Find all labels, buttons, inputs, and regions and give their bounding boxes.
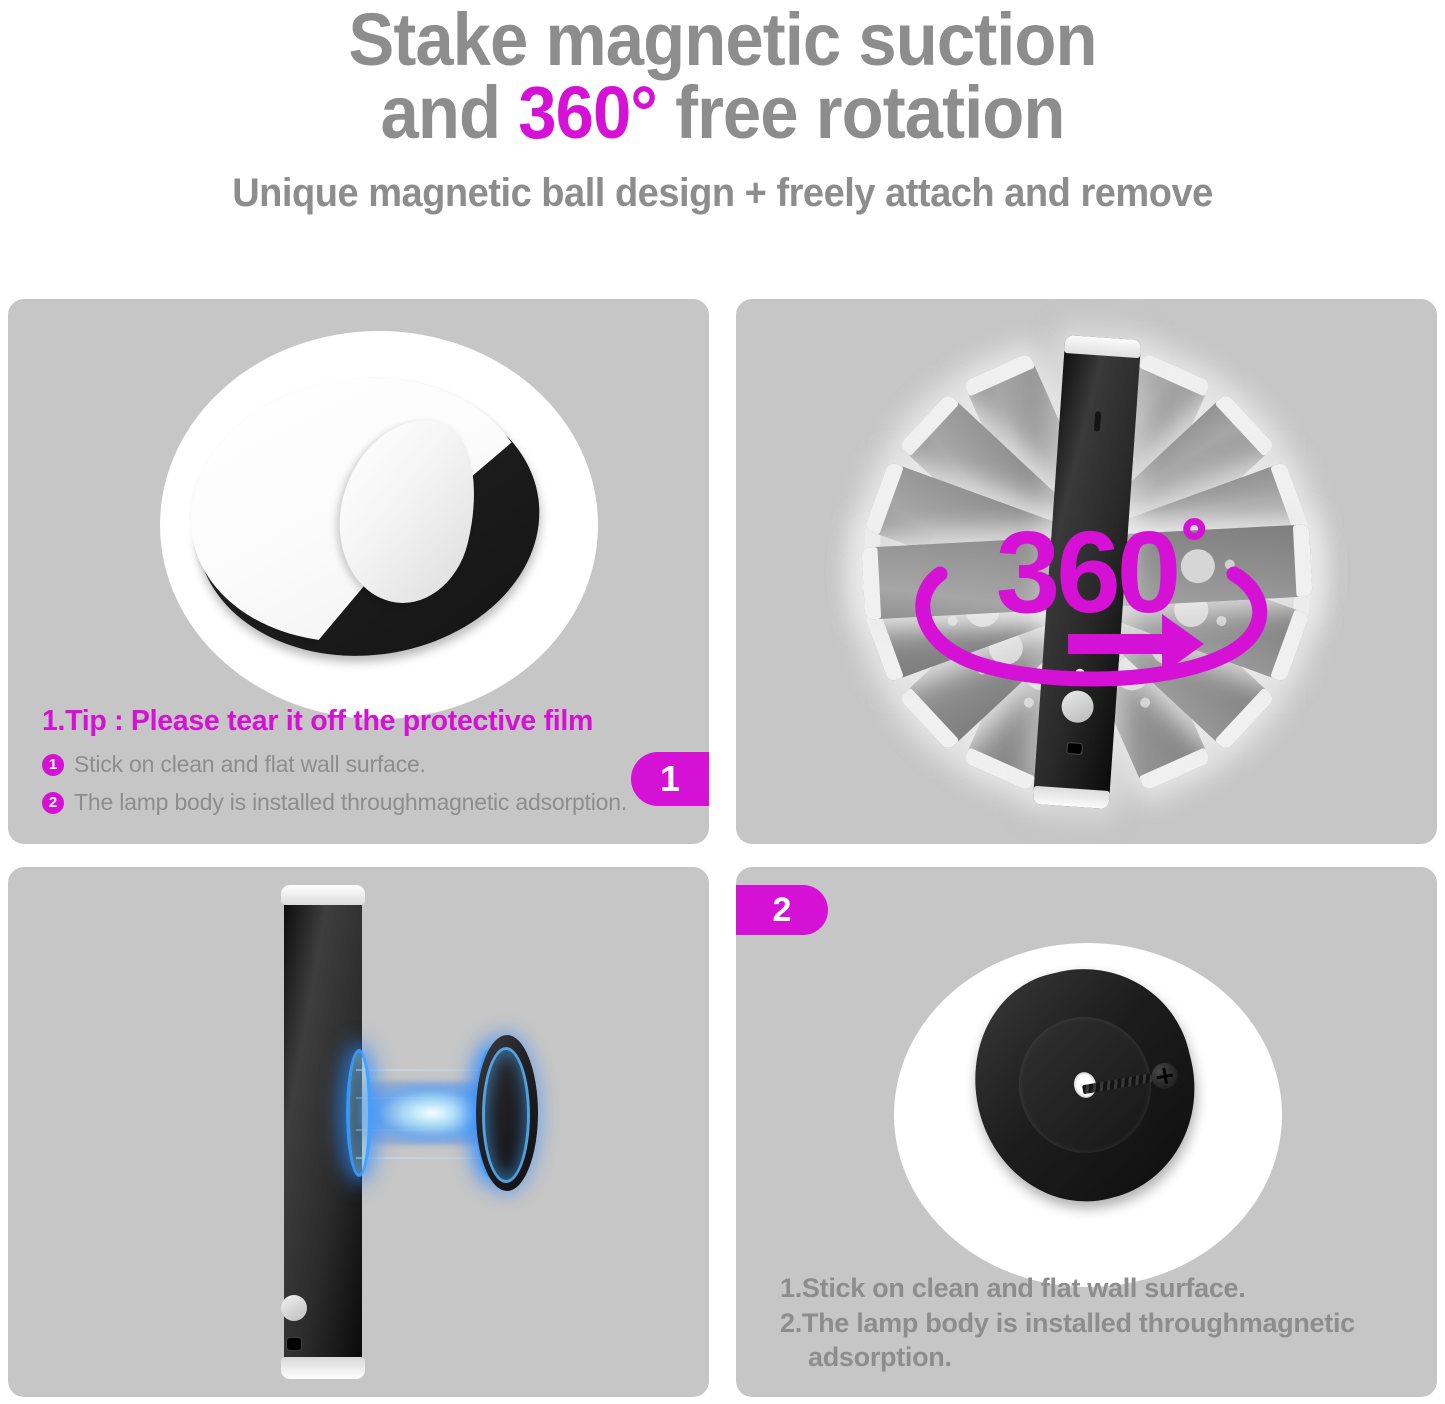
panel4-line-2: 2.The lamp body is installed throughmagn… [780,1308,1355,1338]
list-item: 2 The lamp body is installed throughmagn… [42,789,627,816]
lamp-bottom-cap-icon [1032,785,1109,808]
bullet-number-icon: 2 [42,792,64,814]
panel1-tip-text: 1.Tip : Please tear it off the protectiv… [42,705,593,738]
rotation-fan-graphic: 360 [736,299,1437,844]
ghost-sensor-dot-icon [975,662,989,676]
title-line-1: Stake magnetic suction [51,4,1395,77]
panel-grid: 1.Tip : Please tear it off the protectiv… [8,299,1437,1397]
step-badge-1: 1 [631,752,709,806]
ghost-sensor-icon [1179,548,1215,584]
panel4-line-1: 1.Stick on clean and flat wall surface. [780,1273,1245,1303]
step-badge-2: 2 [736,885,828,935]
beam-ring-left-icon [346,1049,372,1177]
ghost-sensor-dot-icon [1214,614,1227,627]
bullet-number-icon: 1 [42,754,64,776]
panel-mounting-plate: 2 1.Stick on clean and flat wall surface… [736,867,1437,1397]
page-title: Stake magnetic suction and 360° free rot… [51,4,1395,149]
panel1-instruction-list: 1 Stick on clean and flat wall surface. … [42,751,627,827]
lamp-top-cap-icon [1064,334,1141,357]
lamp-charging-port-icon [286,1337,302,1351]
ghost-sensor-dot-icon [946,614,959,627]
mounting-plate-photo [894,943,1282,1287]
ghost-sensor-dot-icon [1184,662,1198,676]
list-item: 1 Stick on clean and flat wall surface. [42,751,627,778]
ghost-sensor-dot-icon [1224,559,1235,570]
panel-adhesive-pad: 1.Tip : Please tear it off the protectiv… [8,299,709,844]
title-accent-360: 360° [518,71,657,154]
lamp-top-cap-icon [281,885,365,905]
list-item-label: Stick on clean and flat wall surface. [74,751,426,778]
lamp-motion-sensor-icon [1060,689,1094,723]
lamp-motion-sensor-icon [281,1295,307,1321]
lamp-bottom-cap-icon [281,1357,365,1379]
lamp-button-icon [1093,411,1100,431]
page-subtitle: Unique magnetic ball design + freely att… [36,171,1409,216]
panel4-line-3: adsorption. [780,1340,1421,1375]
adhesive-pad-photo [160,331,598,719]
title-line-2-prefix: and [381,71,519,154]
panel-magnetic-attachment [8,867,709,1397]
ghost-sensor-dot-icon [1022,696,1035,709]
title-line-2-suffix: free rotation [657,71,1065,154]
panel-360-rotation: 360 [736,299,1437,844]
magnetic-mount-disc-icon [476,1035,538,1191]
ghost-sensor-dot-icon [1138,696,1151,709]
title-line-2: and 360° free rotation [51,77,1395,150]
list-item-label: The lamp body is installed throughmagnet… [74,789,627,816]
header: Stake magnetic suction and 360° free rot… [0,0,1445,216]
lamp-indicator-dot-icon [1074,668,1085,679]
lamp-charging-port-icon [1066,742,1083,755]
panel4-instructions: 1.Stick on clean and flat wall surface. … [780,1271,1421,1375]
